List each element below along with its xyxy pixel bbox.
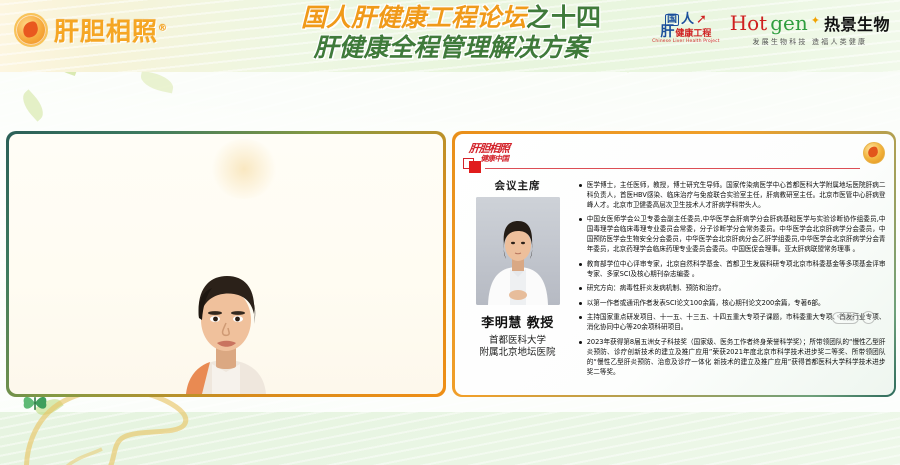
conference-chair-card: 会议主席 (466, 178, 570, 361)
hotgen-logo-row: Hotgen ✦ 热景生物 (730, 11, 890, 35)
bullet-dot-icon (579, 287, 582, 290)
brand-logo-left: 肝胆相照® (14, 12, 168, 48)
hotgen-chinese-name: 热景生物 (824, 11, 890, 35)
biography-bullet: 2023年获得第8届五洲女子科技奖（国家级、医务工作者终身荣誉科学奖）；所带领团… (579, 337, 886, 377)
biography-bullet: 教育部学位中心评审专家，北京自然科学基金、首都卫生发展科研专项北京市科委基金等多… (579, 259, 886, 279)
pen-annotate-icon[interactable]: ✎ 批注 (832, 312, 860, 324)
chair-portrait-illustration (476, 197, 560, 305)
speaker-person-image (172, 244, 280, 394)
chair-portrait-photo (476, 197, 560, 305)
speaker-video-feed[interactable] (9, 134, 443, 394)
biography-bullet-text: 研究方向：病毒性肝炎发病机制、预防和治疗。 (587, 283, 886, 293)
forum-title-line2: 肝健康全程管理解决方案 (286, 34, 616, 63)
clhp-gan-char: 肝 (660, 25, 674, 39)
slide-panel[interactable]: 肝胆相照 健康中国 会议主席 (452, 131, 896, 397)
magnifier-icon[interactable]: ⌕ (862, 311, 875, 324)
chair-affiliation: 首都医科大学 附属北京地坛医院 (479, 335, 555, 361)
butterfly-icon: ✦ (811, 14, 820, 27)
forum-title-line1-main: 国人肝健康工程论坛 (301, 3, 526, 32)
annotation-toolbar-watermark[interactable]: ✎ 批注 ⌕ (832, 307, 888, 329)
bullet-dot-icon (579, 302, 582, 305)
chair-affiliation-line2: 附属北京地坛医院 (479, 347, 555, 360)
pen-annotate-label: 批注 (843, 314, 854, 322)
biography-bullet: 研究方向：病毒性肝炎发病机制、预防和治疗。 (579, 283, 886, 293)
bullet-dot-icon (579, 263, 582, 266)
chair-biography-list: 医学博士，主任医师，教授，博士研究生导师。国家传染病医学中心首都医科大学附属地坛… (579, 180, 886, 382)
chair-affiliation-line1: 首都医科大学 (479, 335, 555, 348)
hotgen-tagline: 发展生物科技 造福人类健康 (752, 37, 867, 47)
chair-role-title: 会议主席 (495, 178, 541, 193)
header-banner: 肝胆相照® 国人肝健康工程论坛之十四 肝健康全程管理解决方案 国 人 ➚ 肝 健… (0, 0, 900, 72)
brand-logo-left-label: 肝胆相照 (54, 17, 158, 46)
biography-bullet-text: 医学博士，主任医师，教授，博士研究生导师。国家传染病医学中心首都医科大学附属地坛… (587, 180, 886, 210)
chair-name: 李明慧 教授 (481, 312, 554, 331)
biography-bullet: 医学博士，主任医师，教授，博士研究生导师。国家传染病医学中心首都医科大学附属地坛… (579, 180, 886, 210)
slide-content: 肝胆相照 健康中国 会议主席 (455, 134, 894, 395)
calligraphy-seal-filled (469, 161, 481, 173)
presentation-stage: 肝胆相照® 国人肝健康工程论坛之十四 肝健康全程管理解决方案 国 人 ➚ 肝 健… (0, 0, 900, 465)
biography-bullet-text: 中国女医师学会公卫专委会副主任委员,中华医学会肝病学分会肝病基础医学与实验诊断协… (587, 214, 886, 254)
sponsor-logos: 国 人 ➚ 肝 健康工程 Chinese Liver Health Projec… (652, 11, 890, 47)
registered-mark: ® (158, 24, 168, 34)
forum-title-line1-suffix: 之十四 (526, 3, 601, 32)
hotgen-hot-text: Hot (730, 13, 768, 33)
forum-title-line1: 国人肝健康工程论坛之十四 (286, 4, 616, 32)
hotgen-logo: Hotgen ✦ 热景生物 发展生物科技 造福人类健康 (730, 11, 890, 47)
speaker-video-panel[interactable] (6, 131, 446, 397)
slide-divider-rule (485, 168, 860, 169)
biography-bullet-text: 2023年获得第8届五洲女子科技奖（国家级、医务工作者终身荣誉科学奖）；所带领团… (587, 337, 886, 377)
biography-bullet: 中国女医师学会公卫专委会副主任委员,中华医学会肝病学分会肝病基础医学与实验诊断协… (579, 214, 886, 254)
bullet-dot-icon (579, 218, 582, 221)
liver-logo-icon (14, 13, 48, 47)
calligraphy-line2: 健康中国 (481, 155, 531, 163)
hotgen-gen-text: gen (770, 13, 808, 33)
biography-bullet-text: 教育部学位中心评审专家，北京自然科学基金、首都卫生发展科研专项北京市科委基金等多… (587, 259, 886, 279)
clhp-english-text: Chinese Liver Health Project (652, 40, 720, 44)
clhp-jiankang-text: 健康工程 (675, 30, 711, 39)
video-light-glow (209, 139, 279, 199)
bullet-dot-icon (579, 316, 582, 319)
bullet-dot-icon (579, 341, 582, 344)
chinese-liver-health-project-logo: 国 人 ➚ 肝 健康工程 Chinese Liver Health Projec… (652, 13, 720, 44)
forum-title: 国人肝健康工程论坛之十四 肝健康全程管理解决方案 (286, 4, 616, 62)
clhp-mid-row: 肝 健康工程 (660, 25, 711, 39)
pen-glyph: ✎ (837, 315, 842, 321)
liver-emblem-icon (863, 142, 885, 164)
bullet-dot-icon (579, 184, 582, 187)
calligraphy-line1: 肝胆相照 (468, 143, 531, 154)
brand-logo-left-text: 肝胆相照® (54, 12, 168, 48)
